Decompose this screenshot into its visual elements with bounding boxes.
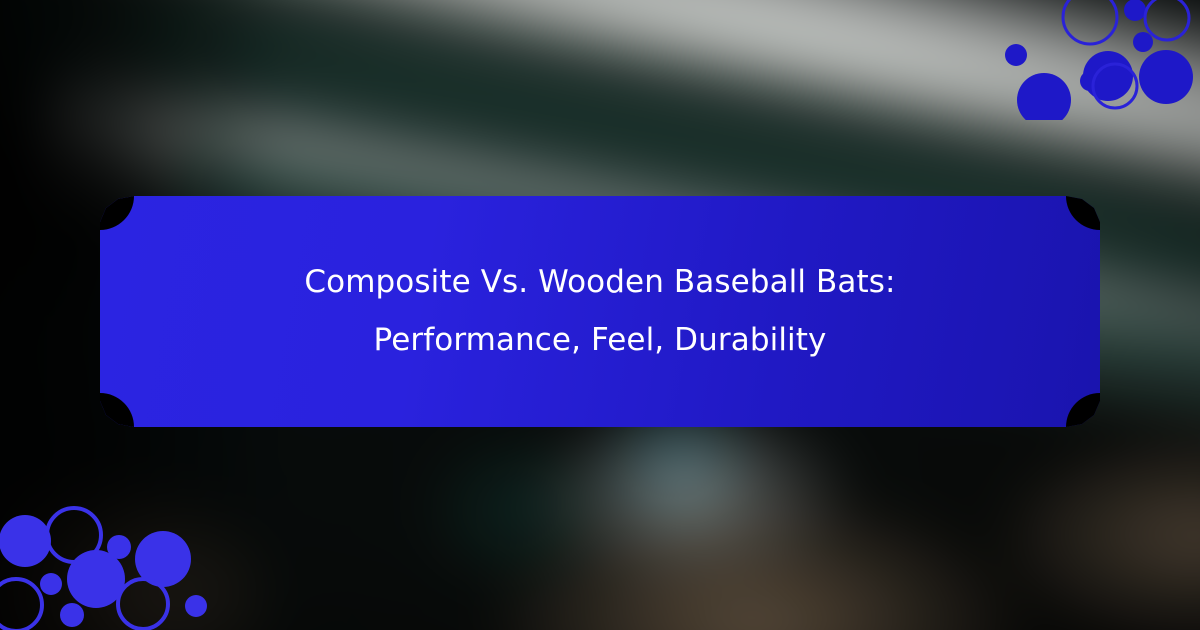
circle-cluster-top-right <box>990 0 1200 120</box>
deco-circle-filled <box>40 573 62 595</box>
deco-circle-filled <box>1017 73 1071 120</box>
circle-group-bottom-left <box>0 508 207 630</box>
title-card: Composite Vs. Wooden Baseball Bats: Perf… <box>100 196 1100 427</box>
deco-circle-filled <box>1133 32 1153 52</box>
deco-circle-outline <box>118 579 168 629</box>
deco-circle-outline <box>0 579 42 630</box>
deco-circle-outline <box>1145 0 1189 40</box>
social-card-canvas: Composite Vs. Wooden Baseball Bats: Perf… <box>0 0 1200 630</box>
deco-circle-filled <box>60 603 84 627</box>
deco-circle-outline <box>1063 0 1117 44</box>
deco-circle-filled <box>1005 44 1027 66</box>
circle-group-top-right <box>1005 0 1193 120</box>
deco-circle-filled <box>1139 50 1193 104</box>
deco-circle-filled <box>1124 0 1146 21</box>
page-title: Composite Vs. Wooden Baseball Bats: Perf… <box>170 254 1030 369</box>
deco-circle-filled <box>67 550 125 608</box>
deco-circle-filled <box>0 515 51 567</box>
circle-cluster-bottom-left <box>0 505 220 630</box>
deco-circle-filled <box>185 595 207 617</box>
